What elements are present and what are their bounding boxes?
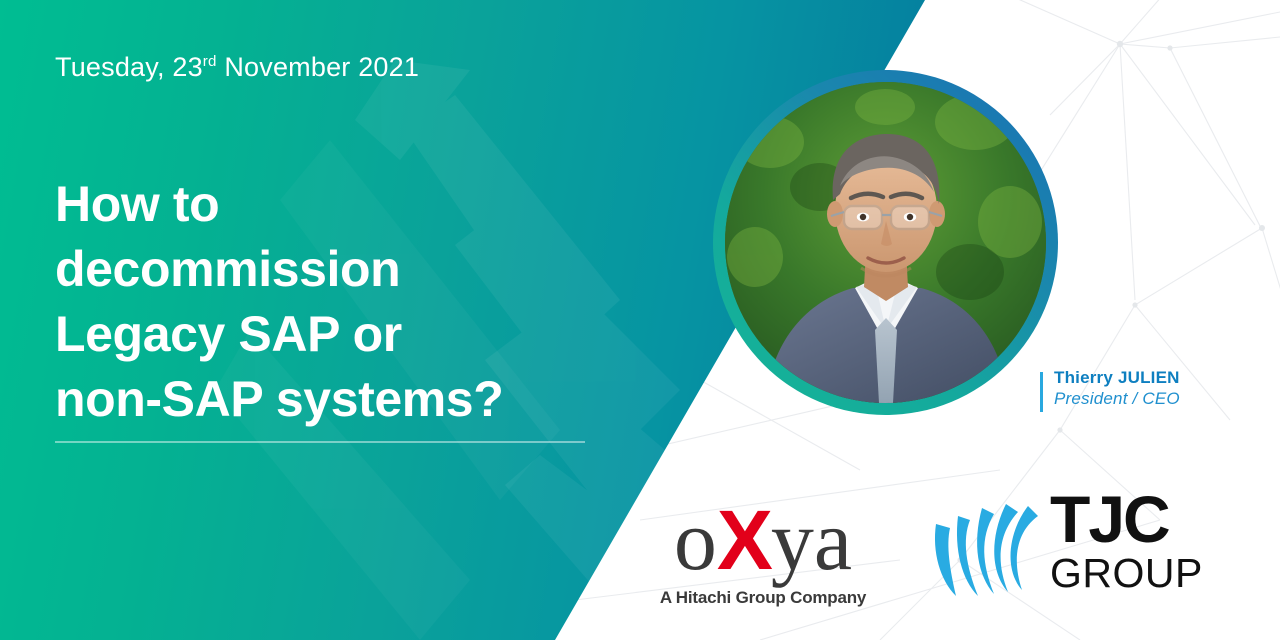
tjc-group-logo: TJC GROUP: [928, 488, 1238, 610]
tjc-group-subtitle: GROUP: [1050, 553, 1203, 594]
speaker-role: President / CEO: [1054, 389, 1180, 409]
poster-canvas: Tuesday, 23rd November 2021 How to decom…: [0, 0, 1280, 640]
oxya-letter-x: X: [717, 493, 771, 587]
oxya-logo: oXya A Hitachi Group Company: [632, 500, 894, 608]
oxya-letter-o: o: [674, 492, 717, 588]
event-date-ordinal: rd: [203, 53, 217, 70]
tjc-wordmark: TJC: [1050, 488, 1203, 551]
oxya-letters-ya: ya: [771, 492, 852, 588]
title-divider: [55, 441, 585, 443]
speaker-portrait-ring: [713, 70, 1058, 415]
page-title-line-4: non-SAP systems?: [55, 367, 655, 432]
portrait-image: [725, 82, 1046, 403]
event-date-day: Tuesday, 23: [55, 52, 203, 82]
page-title-line-2: decommission: [55, 237, 655, 302]
page-title-line-1: How to: [55, 172, 655, 237]
tjc-fan-wing-icon: [928, 494, 1046, 604]
speaker-name: Thierry JULIEN: [1054, 368, 1180, 388]
speaker-credit: Thierry JULIEN President / CEO: [1040, 368, 1180, 409]
page-title-line-3: Legacy SAP or: [55, 302, 655, 367]
tjc-wordmark-block: TJC GROUP: [1050, 488, 1203, 594]
oxya-tagline: A Hitachi Group Company: [632, 588, 894, 608]
oxya-wordmark: oXya: [632, 500, 894, 582]
event-date: Tuesday, 23rd November 2021: [55, 52, 419, 83]
page-title: How to decommission Legacy SAP or non-SA…: [55, 172, 655, 432]
event-date-month-year: November 2021: [217, 52, 419, 82]
credit-accent-bar: [1040, 372, 1043, 412]
speaker-portrait-photo: [725, 82, 1046, 403]
